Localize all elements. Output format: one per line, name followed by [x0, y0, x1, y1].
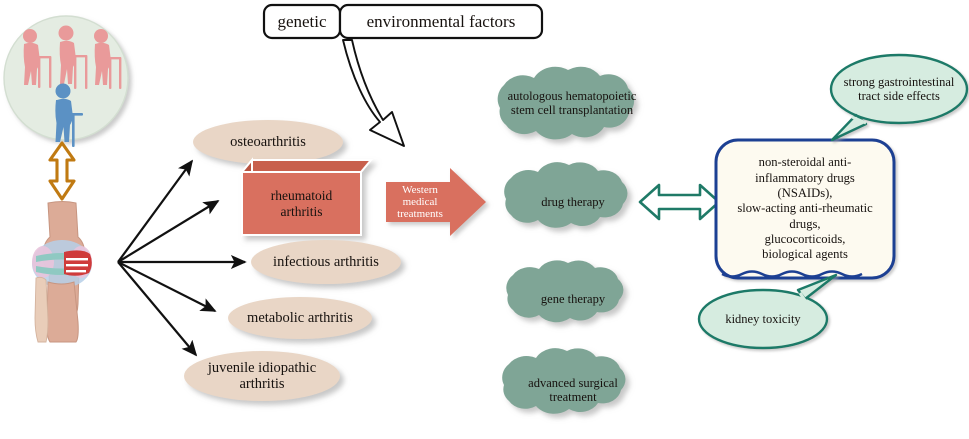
gastrointestinal-side-effects-bubble[interactable]	[831, 55, 967, 140]
juvenile-idiopathic-arthritis-ellipse[interactable]	[184, 351, 340, 401]
advanced-surgical-treatment-cloud[interactable]	[502, 348, 625, 414]
autologous-hsct-cloud[interactable]	[498, 67, 634, 140]
orange-double-headed-vertical-arrow	[50, 143, 74, 199]
rheumatoid-arthritis-box[interactable]	[242, 160, 371, 235]
drug-list-box[interactable]	[716, 140, 894, 278]
metabolic-arthritis-ellipse[interactable]	[228, 297, 372, 339]
gene-therapy-cloud[interactable]	[506, 260, 623, 322]
kidney-toxicity-bubble[interactable]	[699, 275, 836, 348]
western-medical-treatments-arrow	[386, 168, 486, 236]
fan-arrow-metabolic	[118, 262, 215, 311]
fan-out-arrows	[118, 161, 245, 355]
genetic-box[interactable]	[264, 5, 340, 38]
curved-white-arrow	[343, 40, 404, 146]
fan-arrow-rheumatoid	[118, 201, 218, 262]
drug-therapy-cloud[interactable]	[504, 162, 627, 228]
infectious-arthritis-ellipse[interactable]	[251, 240, 401, 284]
environmental-factors-box[interactable]	[340, 5, 542, 38]
teal-double-headed-arrow	[640, 185, 719, 219]
elderly-people-population-icon	[4, 16, 128, 147]
diagram-graphics-layer	[0, 0, 969, 439]
fan-arrow-osteoarthritis	[118, 161, 192, 262]
osteoarthritis-ellipse[interactable]	[193, 120, 343, 164]
diagram-canvas: genetic environmental factors osteoarthr…	[0, 0, 969, 439]
fan-arrow-juvenile	[118, 262, 196, 355]
knee-joint-anatomy-icon	[32, 202, 92, 343]
